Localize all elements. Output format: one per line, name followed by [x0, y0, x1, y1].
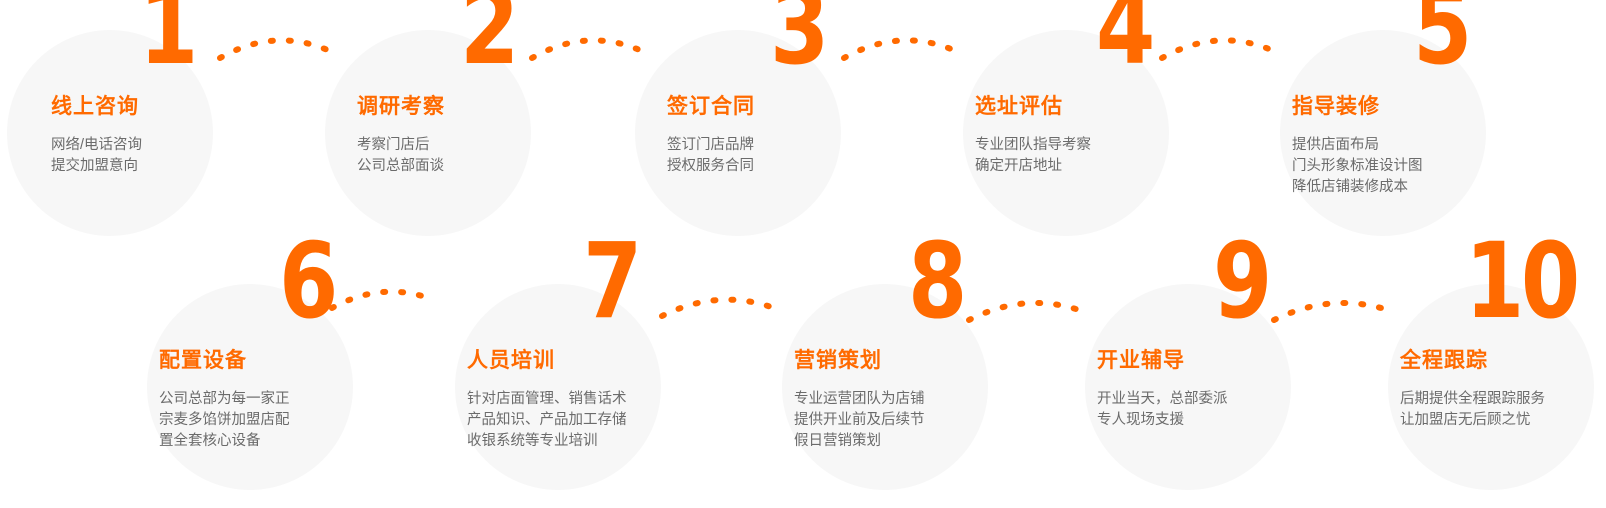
connector-dotted-path: [969, 303, 1079, 320]
step-title-2: 调研考察: [357, 96, 445, 117]
step-title-1: 线上咨询: [51, 96, 139, 117]
step-desc-3: 签订门店品牌 授权服务合同: [667, 135, 754, 177]
step-desc-line: 网络/电话咨询: [51, 135, 142, 156]
step-title-8: 营销策划: [794, 350, 882, 371]
connector-7-8: [658, 280, 778, 322]
step-number-3: 3: [770, 0, 826, 69]
step-title-6: 配置设备: [159, 350, 247, 371]
connector-dotted-path: [1162, 40, 1276, 58]
step-desc-7: 针对店面管理、销售话术 产品知识、产品加工存储 收银系统等专业培训: [467, 389, 627, 452]
connector-4-5: [1158, 18, 1280, 62]
connector-1-2: [216, 18, 336, 62]
step-desc-10: 后期提供全程跟踪服务 让加盟店无后顾之忧: [1400, 389, 1545, 431]
step-number-8: 8: [908, 240, 964, 323]
step-title-4: 选址评估: [975, 96, 1063, 117]
step-desc-9: 开业当天，总部委派 专人现场支援: [1097, 389, 1228, 431]
step-desc-4: 专业团队指导考察 确定开店地址: [975, 135, 1091, 177]
step-desc-line: 专人现场支援: [1097, 410, 1228, 431]
step-number-7: 7: [583, 240, 639, 323]
step-desc-line: 提交加盟意向: [51, 156, 142, 177]
step-number-9: 9: [1213, 240, 1269, 323]
step-desc-line: 针对店面管理、销售话术: [467, 389, 627, 410]
step-desc-1: 网络/电话咨询 提交加盟意向: [51, 135, 142, 177]
franchise-process-flow: 1 线上咨询 网络/电话咨询 提交加盟意向 2 调研考察 考察门店后 公司总部面…: [0, 0, 1606, 508]
step-title-3: 签订合同: [667, 96, 755, 117]
step-number-6: 6: [279, 240, 335, 323]
step-desc-line: 收银系统等专业培训: [467, 431, 627, 452]
connector-9-10: [1270, 284, 1392, 326]
step-desc-line: 确定开店地址: [975, 156, 1091, 177]
step-desc-line: 公司总部面谈: [357, 156, 444, 177]
connector-dotted-path: [844, 40, 958, 58]
step-desc-line: 后期提供全程跟踪服务: [1400, 389, 1545, 410]
step-title-10: 全程跟踪: [1400, 350, 1488, 371]
step-desc-line: 专业团队指导考察: [975, 135, 1091, 156]
connector-2-3: [528, 18, 648, 62]
step-desc-line: 签订门店品牌: [667, 135, 754, 156]
connector-3-4: [840, 18, 962, 62]
step-desc-6: 公司总部为每一家正 宗麦多馅饼加盟店配 置全套核心设备: [159, 389, 290, 452]
connector-dotted-path: [332, 292, 434, 308]
step-number-5: 5: [1413, 0, 1469, 69]
connector-dotted-path: [532, 40, 644, 58]
step-desc-line: 提供店面布局: [1292, 135, 1423, 156]
step-desc-line: 公司总部为每一家正: [159, 389, 290, 410]
connector-dotted-path: [220, 40, 332, 58]
step-desc-line: 提供开业前及后续节: [794, 410, 925, 431]
step-desc-5: 提供店面布局 门头形象标准设计图 降低店铺装修成本: [1292, 135, 1423, 198]
step-number-10: 10: [1465, 240, 1577, 323]
step-number-1: 1: [139, 0, 195, 69]
connector-8-9: [965, 284, 1083, 326]
step-desc-line: 考察门店后: [357, 135, 444, 156]
step-desc-line: 授权服务合同: [667, 156, 754, 177]
step-desc-line: 假日营销策划: [794, 431, 925, 452]
step-number-4: 4: [1096, 0, 1152, 69]
step-desc-line: 产品知识、产品加工存储: [467, 410, 627, 431]
step-desc-line: 置全套核心设备: [159, 431, 290, 452]
step-desc-line: 专业运营团队为店铺: [794, 389, 925, 410]
step-desc-line: 开业当天，总部委派: [1097, 389, 1228, 410]
step-desc-2: 考察门店后 公司总部面谈: [357, 135, 444, 177]
connector-dotted-path: [662, 300, 774, 316]
step-desc-8: 专业运营团队为店铺 提供开业前及后续节 假日营销策划: [794, 389, 925, 452]
step-desc-line: 宗麦多馅饼加盟店配: [159, 410, 290, 431]
step-desc-line: 让加盟店无后顾之忧: [1400, 410, 1545, 431]
step-title-5: 指导装修: [1292, 96, 1380, 117]
connector-dotted-path: [1274, 303, 1388, 320]
step-title-9: 开业辅导: [1097, 350, 1185, 371]
step-desc-line: 门头形象标准设计图: [1292, 156, 1423, 177]
connector-6-7: [328, 272, 438, 314]
step-title-7: 人员培训: [467, 350, 555, 371]
step-number-2: 2: [460, 0, 516, 69]
step-desc-line: 降低店铺装修成本: [1292, 177, 1423, 198]
